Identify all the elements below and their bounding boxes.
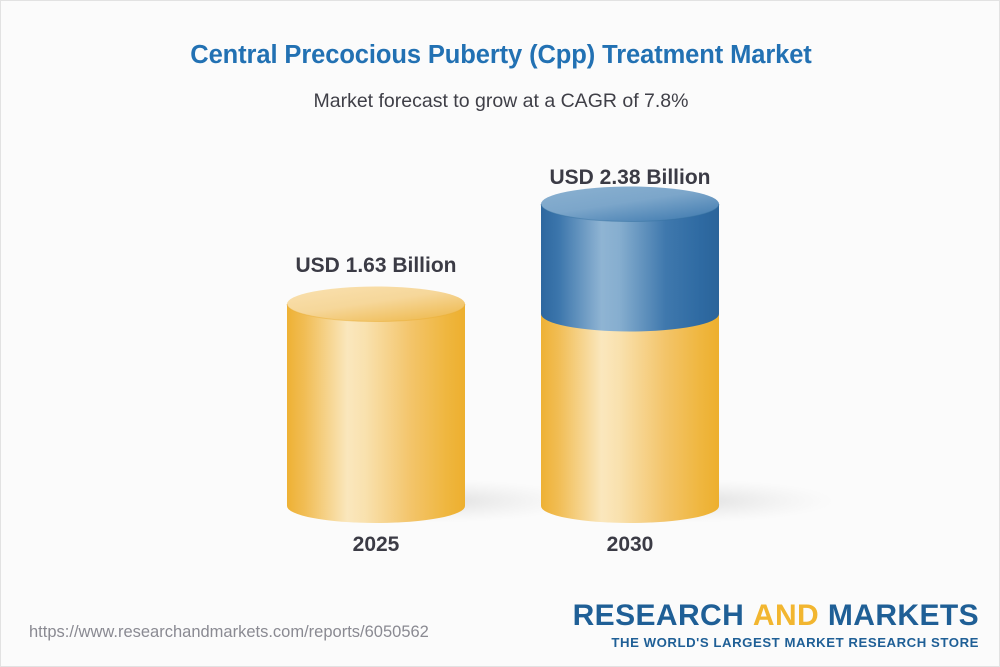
bar-2030[interactable] (541, 187, 719, 524)
report-url[interactable]: https://www.researchandmarkets.com/repor… (29, 623, 429, 642)
logo-word-research: RESEARCH (573, 599, 745, 632)
value-label-2030: USD 2.38 Billion (530, 166, 730, 190)
cylinder-bar-chart-svg (1, 1, 1000, 667)
logo-word-and: AND (753, 599, 819, 632)
chart-canvas: Central Precocious Puberty (Cpp) Treatme… (0, 0, 1000, 667)
bar-2025-body (287, 304, 465, 523)
bar-2025[interactable] (287, 287, 465, 524)
logo-wordmark: RESEARCH AND MARKETS (573, 601, 979, 631)
category-label-2030: 2030 (530, 533, 730, 557)
logo-word-markets: MARKETS (828, 599, 979, 632)
category-label-2025: 2025 (276, 533, 476, 557)
bar-2030-body-blue (541, 204, 719, 332)
research-and-markets-logo[interactable]: RESEARCH AND MARKETS THE WORLD'S LARGEST… (573, 601, 979, 649)
value-label-2025: USD 1.63 Billion (276, 254, 476, 278)
plot-area: USD 1.63 Billion USD 2.38 Billion 2025 2… (1, 1, 1000, 667)
logo-tagline: THE WORLD'S LARGEST MARKET RESEARCH STOR… (573, 636, 979, 649)
bar-2030-body-gold (541, 314, 719, 523)
